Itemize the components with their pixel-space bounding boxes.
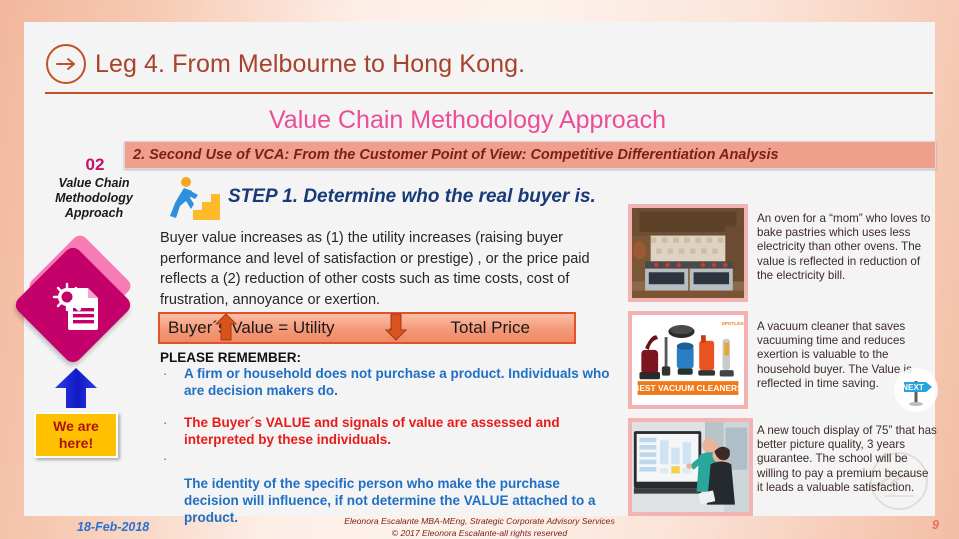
bullet-text: A firm or household does not purchase a … (184, 365, 612, 399)
remember-bullet-list: · A firm or household does not purchase … (160, 365, 612, 528)
sidebar-caption: Value Chain Methodology Approach (30, 176, 158, 221)
bullet-marker: · (160, 365, 184, 399)
footer-page-number: 9 (932, 518, 939, 532)
svg-text:SPOTLESS: SPOTLESS (722, 321, 744, 326)
bullet-marker: · (160, 450, 184, 467)
formula-part1: Buyer´s Value = Utility (168, 318, 334, 337)
touch-display-photo (628, 418, 753, 516)
body-paragraph: Buyer value increases as (1) the utility… (160, 228, 610, 310)
up-arrow-icon (53, 366, 99, 410)
we-are-here-line2: here! (59, 435, 93, 452)
list-item: · A firm or household does not purchase … (160, 365, 612, 399)
document-magnifier-icon (50, 276, 106, 334)
list-item: · The Buyer´s VALUE and signals of value… (160, 414, 612, 448)
next-signpost-icon[interactable]: NEXT (893, 367, 939, 413)
remember-heading: PLEASE REMEMBER: (160, 350, 301, 365)
header-divider (45, 92, 933, 94)
logo-watermark (866, 450, 932, 512)
circle-arrow-right-icon (46, 44, 86, 84)
svg-text:BEST VACUUM CLEANERS: BEST VACUUM CLEANERS (633, 383, 743, 393)
page-subtitle: Value Chain Methodology Approach (0, 106, 935, 135)
footer-credit: Eleonora Escalante MBA-MEng, Strategic C… (0, 516, 959, 539)
step-title: STEP 1. Determine who the real buyer is. (228, 186, 596, 208)
next-label: NEXT (902, 383, 924, 392)
footer-credit-line1: Eleonora Escalante MBA-MEng, Strategic C… (0, 516, 959, 528)
we-are-here-line1: We are (53, 418, 99, 435)
bullet-marker: · (160, 414, 184, 448)
section-banner: 2. Second Use of VCA: From the Customer … (124, 141, 936, 169)
sidebar-diamond-badge (20, 248, 138, 360)
example-caption: An oven for a “mom” who loves to bake pa… (757, 212, 937, 283)
bullet-text: The Buyer´s VALUE and signals of value a… (184, 414, 612, 448)
formula-part3: Total Price (451, 318, 530, 337)
down-arrow-icon (385, 313, 407, 341)
oven-kitchen-photo (628, 204, 748, 302)
sidebar-step-number: 02 (50, 155, 140, 175)
runner-stairs-icon (164, 176, 220, 222)
slide: Leg 4. From Melbourne to Hong Kong. Valu… (0, 0, 959, 539)
vacuum-cleaners-photo: SPOTLESS VACUUM BEST VACUUM CLEANERS (628, 311, 748, 409)
up-arrow-icon (215, 313, 237, 341)
list-item: · (160, 450, 612, 467)
page-title: Leg 4. From Melbourne to Hong Kong. (95, 50, 525, 79)
footer-credit-line2: © 2017 Eleonora Escalante-all rights res… (0, 528, 959, 539)
section-banner-label: 2. Second Use of VCA: From the Customer … (125, 147, 779, 163)
we-are-here-badge: We are here! (34, 412, 118, 458)
